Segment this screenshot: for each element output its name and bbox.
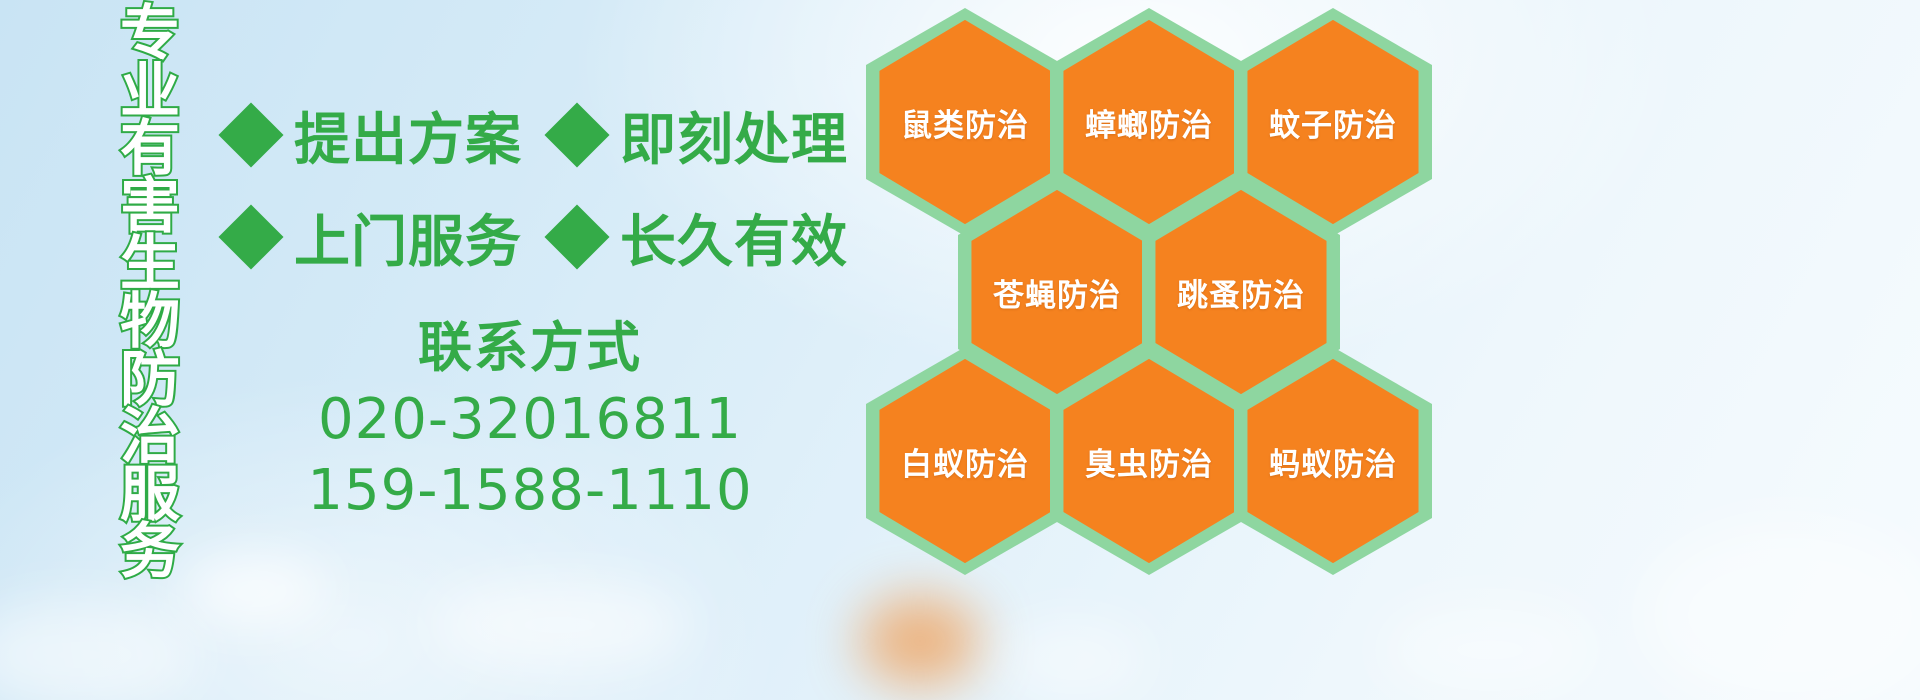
feature-item: 上门服务 [228, 197, 554, 278]
feature-item: 长久有效 [554, 197, 848, 278]
service-hex-cell[interactable]: 蚂蚁防治 [1234, 347, 1432, 575]
bokeh-blob [0, 600, 200, 700]
contact-block: 联系方式 020-32016811 159-1588-1110 [200, 318, 860, 526]
contact-phone-landline[interactable]: 020-32016811 [200, 385, 860, 456]
vertical-headline: 专 业 有 害 生 物 防 治 服 务 [104, 6, 196, 562]
vertical-headline-char: 业 [120, 64, 180, 122]
vertical-headline-char: 务 [120, 524, 180, 582]
feature-label: 即刻处理 [620, 95, 848, 176]
vertical-headline-char: 专 [120, 6, 180, 64]
feature-label: 提出方案 [294, 95, 522, 176]
feature-item: 提出方案 [228, 95, 554, 176]
service-hex-label: 蚂蚁防治 [1269, 439, 1397, 484]
vertical-headline-char: 防 [120, 352, 180, 410]
contact-title: 联系方式 [200, 318, 860, 377]
vertical-headline-char: 害 [120, 179, 180, 237]
feature-list: 提出方案 即刻处理 上门服务 长久有效 [228, 84, 868, 288]
feature-item: 即刻处理 [554, 95, 848, 176]
service-hex-label: 跳蚤防治 [1177, 270, 1305, 315]
contact-phone-mobile[interactable]: 159-1588-1110 [200, 456, 860, 527]
vertical-headline-char: 物 [120, 294, 180, 352]
service-hex-label: 苍蝇防治 [993, 270, 1121, 315]
service-hex-label: 蟑螂防治 [1085, 100, 1213, 145]
service-hex-label: 蚊子防治 [1269, 100, 1397, 145]
vertical-headline-char: 有 [120, 121, 180, 179]
service-hex-label: 臭虫防治 [1085, 439, 1213, 484]
bokeh-blob [1640, 520, 1920, 700]
diamond-icon [544, 204, 609, 269]
feature-label: 上门服务 [294, 197, 522, 278]
pest-control-banner: 专 业 有 害 生 物 防 治 服 务 提出方案 即刻处理 上门服务 [0, 0, 1920, 700]
vertical-headline-char: 服 [120, 467, 180, 525]
feature-row: 上门服务 长久有效 [228, 186, 868, 288]
service-hex-cell[interactable]: 臭虫防治 [1050, 347, 1248, 575]
bokeh-blob [430, 580, 690, 670]
vertical-headline-char: 生 [120, 236, 180, 294]
diamond-icon [218, 204, 283, 269]
diamond-icon [218, 102, 283, 167]
feature-row: 提出方案 即刻处理 [228, 84, 868, 186]
vertical-headline-char: 治 [120, 409, 180, 467]
diamond-icon [544, 102, 609, 167]
feature-label: 长久有效 [620, 197, 848, 278]
service-honeycomb: 鼠类防治 蟑螂防治 蚊子防治 苍蝇防治 跳蚤防治 白蚁防治 [856, 0, 1476, 700]
service-hex-cell[interactable]: 白蚁防治 [866, 347, 1064, 575]
service-hex-label: 鼠类防治 [901, 100, 1029, 145]
service-hex-label: 白蚁防治 [901, 439, 1029, 484]
bokeh-blob [180, 556, 330, 626]
